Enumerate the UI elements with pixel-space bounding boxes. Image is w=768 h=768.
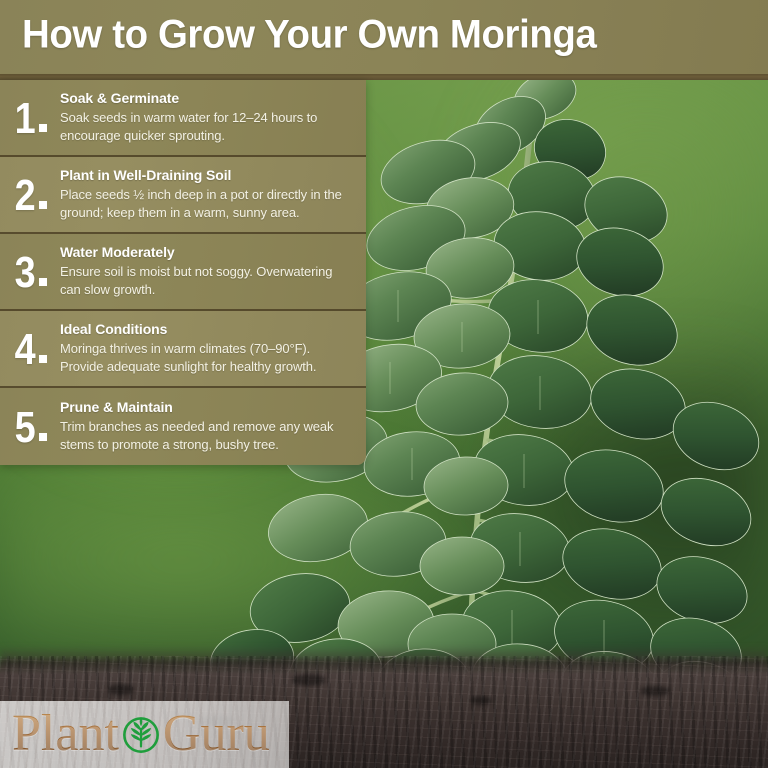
step-title: Plant in Well-Draining Soil — [60, 167, 346, 183]
step-description: Moringa thrives in warm climates (70–90°… — [60, 340, 346, 375]
step-number-dot — [39, 124, 47, 132]
step-description: Ensure soil is moist but not soggy. Over… — [60, 263, 346, 298]
step-row: 1 Soak & Germinate Soak seeds in warm wa… — [0, 80, 366, 157]
step-body: Plant in Well-Draining Soil Place seeds … — [60, 167, 352, 221]
step-row: 3 Water Moderately Ensure soil is moist … — [0, 234, 366, 311]
page-title: How to Grow Your Own Moringa — [22, 14, 620, 59]
step-number-dot — [39, 201, 47, 209]
step-description: Place seeds ½ inch deep in a pot or dire… — [60, 186, 346, 221]
step-body: Water Moderately Ensure soil is moist bu… — [60, 244, 352, 298]
step-body: Soak & Germinate Soak seeds in warm wate… — [60, 90, 352, 144]
sprout-in-circle-icon — [120, 714, 162, 756]
step-number: 2 — [0, 176, 60, 216]
step-title: Soak & Germinate — [60, 90, 346, 106]
step-row: 4 Ideal Conditions Moringa thrives in wa… — [0, 311, 366, 388]
step-title: Ideal Conditions — [60, 321, 346, 337]
step-title: Water Moderately — [60, 244, 346, 260]
brand-logo[interactable]: Plant Guru — [12, 704, 270, 764]
step-body: Ideal Conditions Moringa thrives in warm… — [60, 321, 352, 375]
step-number-dot — [39, 433, 47, 441]
step-number: 1 — [0, 99, 60, 139]
step-description: Trim branches as needed and remove any w… — [60, 418, 346, 453]
step-row: 2 Plant in Well-Draining Soil Place seed… — [0, 157, 366, 234]
step-title: Prune & Maintain — [60, 399, 346, 415]
page-title-text: How to Grow Your Own Moringa — [22, 13, 596, 58]
header-bar: How to Grow Your Own Moringa — [0, 0, 768, 74]
step-number-dot — [39, 355, 47, 363]
logo-word-guru: Guru — [163, 708, 270, 760]
steps-panel: 1 Soak & Germinate Soak seeds in warm wa… — [0, 80, 366, 465]
step-number-dot — [39, 278, 47, 286]
step-number: 3 — [0, 253, 60, 293]
step-number: 5 — [0, 408, 60, 448]
moringa-growing-infographic: How to Grow Your Own Moringa 1 Soak & Ge… — [0, 0, 768, 768]
step-row: 5 Prune & Maintain Trim branches as need… — [0, 388, 366, 465]
logo-word-plant: Plant — [12, 708, 119, 760]
step-number: 4 — [0, 330, 60, 370]
step-description: Soak seeds in warm water for 12–24 hours… — [60, 109, 346, 144]
step-body: Prune & Maintain Trim branches as needed… — [60, 399, 352, 453]
